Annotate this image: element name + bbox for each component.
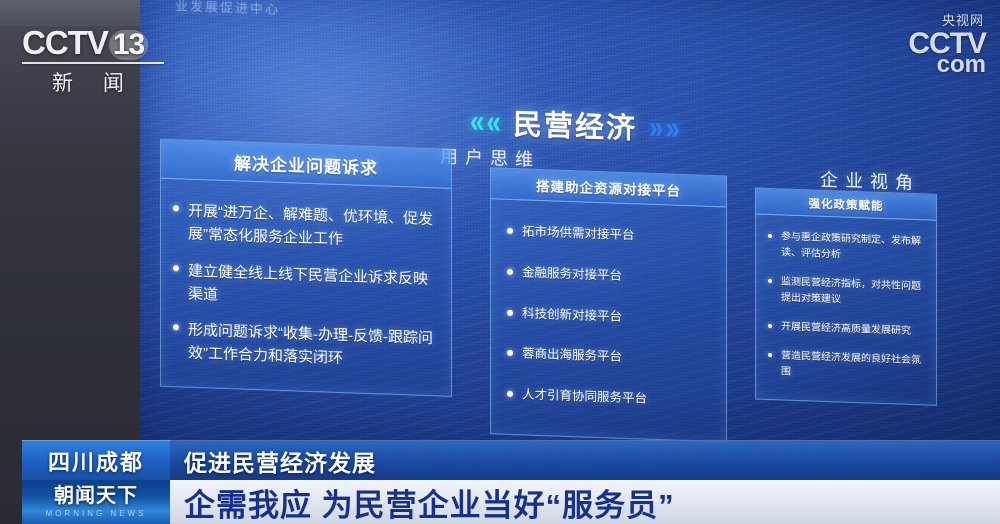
channel-bug-logo: CCTV 13	[22, 26, 192, 60]
lower-third: 四川成都 促进民营经济发展 朝闻天下 MORNING NEWS 企需我应 为民营…	[0, 440, 1000, 524]
program-name: 朝闻天下	[54, 486, 138, 507]
headline-bar: 企需我应 为民营企业当好“服务员”	[170, 480, 1000, 524]
site-watermark-cn: 央视网	[908, 14, 984, 27]
topic-bar: 促进民营经济发展	[170, 440, 1000, 481]
channel-bug-logo-text: CCTV	[22, 26, 108, 59]
topic-bar-text: 促进民营经济发展	[184, 444, 376, 478]
program-name-en: MORNING NEWS	[46, 509, 147, 518]
led-presentation-display: 业发展促进中心 «« 民营经济 »» 用户思维 企业视角 解决企业问题诉求	[140, 0, 1000, 501]
headline-text: 企需我应 为民营企业当好“服务员”	[184, 480, 675, 524]
channel-bug-name: 新 闻	[22, 67, 192, 97]
channel-bug-divider	[22, 62, 164, 64]
broadcast-frame: 业发展促进中心 «« 民营经济 »» 用户思维 企业视角 解决企业问题诉求	[0, 0, 1000, 524]
channel-number-badge: 13	[109, 30, 148, 60]
site-watermark: 央视网 CCTV com	[908, 14, 986, 77]
location-badge: 四川成都	[22, 440, 170, 481]
screen-vignette	[140, 0, 1000, 501]
program-badge: 朝闻天下 MORNING NEWS	[22, 480, 170, 524]
location-badge-text: 四川成都	[48, 445, 144, 477]
channel-bug: CCTV 13 新 闻	[22, 26, 192, 88]
